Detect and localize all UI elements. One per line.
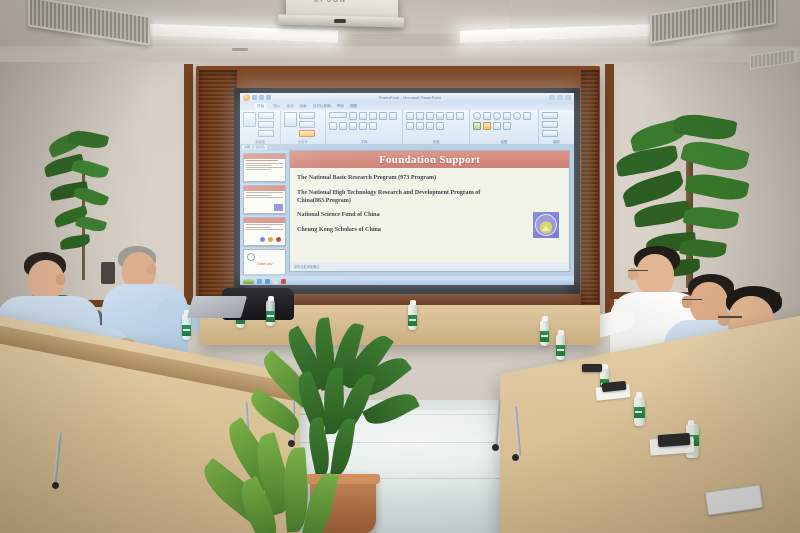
powerpoint-titlebar: PowerPoint - Microsoft PowerPoint (240, 93, 574, 102)
columns-icon[interactable] (436, 122, 444, 130)
projector-brand-label: EPSON (314, 0, 347, 4)
bullets-icon[interactable] (406, 112, 414, 120)
water-bottle[interactable] (634, 396, 645, 426)
thumb-image-block (274, 204, 283, 211)
smartphone[interactable] (658, 433, 691, 447)
thumb-line (246, 224, 283, 225)
slide-thumbnail-3[interactable] (243, 217, 286, 246)
nsfc-emblem-icon (533, 212, 559, 238)
copy-icon[interactable] (258, 121, 274, 128)
thumb-line (246, 169, 271, 170)
thumb-line (246, 160, 278, 161)
water-bottle[interactable] (556, 334, 565, 360)
window-controls[interactable] (549, 95, 571, 100)
table-caster (512, 454, 519, 461)
thumb-line (246, 163, 283, 164)
arrange-icon[interactable] (473, 122, 481, 130)
font-color-icon[interactable] (369, 122, 377, 130)
paste-icon[interactable] (243, 112, 256, 127)
select-icon[interactable] (542, 130, 558, 137)
shape-outline-icon[interactable] (503, 122, 511, 130)
tab-outline[interactable]: 大纲 (242, 145, 252, 150)
quick-access-toolbar[interactable] (243, 94, 271, 101)
thumb-line (246, 227, 271, 228)
ribbon-tab-strip[interactable]: 开始 插入 设计 动画 幻灯片放映 审阅 视图 (240, 102, 574, 110)
laptop[interactable] (187, 296, 247, 318)
thumb-line (246, 192, 283, 193)
thumb-logo-icon (260, 237, 265, 242)
shape-rect-icon[interactable] (483, 112, 491, 120)
foreground-potted-plant (250, 322, 480, 533)
close-icon[interactable] (565, 95, 571, 100)
ribbon-tab-insert[interactable]: 插入 (273, 104, 280, 109)
ribbon-group-clipboard[interactable]: 剪贴板 (240, 110, 281, 144)
character-spacing-icon[interactable] (359, 122, 367, 130)
ribbon-tab-slideshow[interactable]: 幻灯片放映 (313, 104, 331, 109)
slide-bullet-4: Cheung Kong Scholars of China (297, 226, 492, 234)
projection-screen[interactable]: PowerPoint - Microsoft PowerPoint 开始 插入 … (240, 93, 574, 285)
thumb-thankyou-text: Thank you (257, 262, 273, 266)
ribbon-tab-review[interactable]: 审阅 (337, 104, 344, 109)
slide-body[interactable]: The National Basic Research Program (973… (290, 168, 569, 234)
new-slide-icon[interactable] (284, 112, 297, 127)
window-title: PowerPoint - Microsoft PowerPoint (271, 96, 549, 100)
table-caster (492, 444, 499, 451)
explorer-icon[interactable] (257, 279, 262, 284)
font-family-select[interactable] (329, 112, 347, 118)
layout-icon[interactable] (299, 112, 315, 119)
thumb-decoration-icon (247, 253, 255, 261)
bold-icon[interactable] (379, 112, 387, 120)
shape-fill-icon[interactable] (493, 122, 501, 130)
notes-placeholder[interactable]: 单击此处添加备注 (290, 262, 569, 271)
windows-taskbar[interactable] (240, 278, 574, 285)
shrink-font-icon[interactable] (369, 112, 377, 120)
shape-line-icon[interactable] (523, 112, 531, 120)
shape-arrow-icon[interactable] (503, 112, 511, 120)
thumb-logo-icon (268, 237, 273, 242)
align-right-icon[interactable] (416, 122, 424, 130)
meeting-room-photo: EPSON PowerPoint - Microsoft PowerPoint (0, 0, 800, 533)
ribbon-group-editing[interactable]: 编辑 (539, 110, 574, 144)
ribbon-group-font[interactable]: 字体 (326, 110, 403, 144)
thumb-title-bar (244, 218, 285, 223)
increase-indent-icon[interactable] (436, 112, 444, 120)
outline-slides-tabs[interactable]: 大纲 幻灯片 (242, 145, 286, 150)
ribbon-tab-home[interactable]: 开始 (254, 103, 267, 110)
office-orb-icon[interactable] (243, 94, 250, 101)
replace-icon[interactable] (542, 121, 558, 128)
slide-thumbnail-1[interactable] (243, 153, 286, 182)
thumb-line (246, 197, 283, 198)
thumb-logo-icon (276, 237, 281, 242)
line-spacing-icon[interactable] (446, 112, 454, 120)
minimize-icon[interactable] (549, 95, 555, 100)
reset-icon[interactable] (299, 121, 315, 128)
section-icon[interactable] (299, 130, 315, 137)
slide-bullet-3: National Science Fund of China (297, 211, 492, 219)
align-left-icon[interactable] (456, 112, 464, 120)
cut-icon[interactable] (258, 112, 274, 119)
slide-title-text: Foundation Support (379, 154, 480, 166)
italic-icon[interactable] (389, 112, 397, 120)
nsfc-emblem-inner (535, 214, 557, 236)
decrease-indent-icon[interactable] (426, 112, 434, 120)
font-size-select[interactable] (349, 112, 357, 120)
slide-title-bar: Foundation Support (290, 151, 569, 168)
thumb-title-bar (244, 186, 285, 191)
ribbon-tab-design[interactable]: 设计 (286, 104, 293, 109)
slide-bullet-1: The National Basic Research Program (973… (297, 174, 492, 182)
ribbon-group-slides[interactable]: 幻灯片 (281, 110, 326, 144)
align-center-icon[interactable] (406, 122, 414, 130)
numbering-icon[interactable] (416, 112, 424, 120)
quick-styles-icon[interactable] (483, 122, 491, 130)
thumb-line (246, 195, 271, 196)
ribbon-tab-animations[interactable]: 动画 (300, 104, 307, 109)
strikethrough-icon[interactable] (349, 122, 357, 130)
ribbon-tab-view[interactable]: 视图 (350, 104, 357, 109)
thumb-line (246, 229, 283, 230)
ribbon-group-drawing[interactable]: 绘图 (470, 110, 539, 144)
find-icon[interactable] (542, 112, 558, 119)
start-button[interactable] (243, 279, 254, 284)
media-icon[interactable] (273, 279, 278, 284)
justify-icon[interactable] (426, 122, 434, 130)
shadow-icon[interactable] (339, 122, 347, 130)
thumb-line (246, 165, 271, 166)
browser-icon[interactable] (265, 279, 270, 284)
thumb-line (246, 167, 283, 168)
slide-bullet-2: The National High Technology Research an… (297, 189, 492, 205)
table-caster (52, 482, 59, 489)
water-bottle[interactable] (540, 320, 549, 346)
smartphone[interactable] (582, 364, 602, 372)
powerpoint-icon[interactable] (281, 279, 286, 284)
ribbon[interactable]: 剪贴板 幻灯片 (240, 110, 574, 145)
tab-slides[interactable]: 幻灯片 (254, 145, 267, 150)
undo-icon[interactable] (259, 95, 264, 100)
ceiling-fixture (232, 48, 248, 51)
save-icon[interactable] (252, 95, 257, 100)
slide-thumbnail-2[interactable] (243, 185, 286, 214)
format-painter-icon[interactable] (258, 130, 274, 137)
shape-star-icon[interactable] (513, 112, 521, 120)
slide-canvas[interactable]: Foundation Support The National Basic Re… (289, 150, 570, 272)
ribbon-group-paragraph[interactable]: 段落 (403, 110, 470, 144)
projector-lens (334, 19, 346, 23)
underline-icon[interactable] (329, 122, 337, 130)
slide-thumbnail-pane[interactable]: Thank you (242, 151, 287, 274)
maximize-icon[interactable] (557, 95, 563, 100)
thumb-title-bar (244, 154, 285, 159)
shape-circle-icon[interactable] (493, 112, 501, 120)
shape-oval-icon[interactable] (473, 112, 481, 120)
slide-thumbnail-4[interactable]: Thank you (243, 249, 286, 274)
grow-font-icon[interactable] (359, 112, 367, 120)
ceiling (0, 0, 800, 62)
